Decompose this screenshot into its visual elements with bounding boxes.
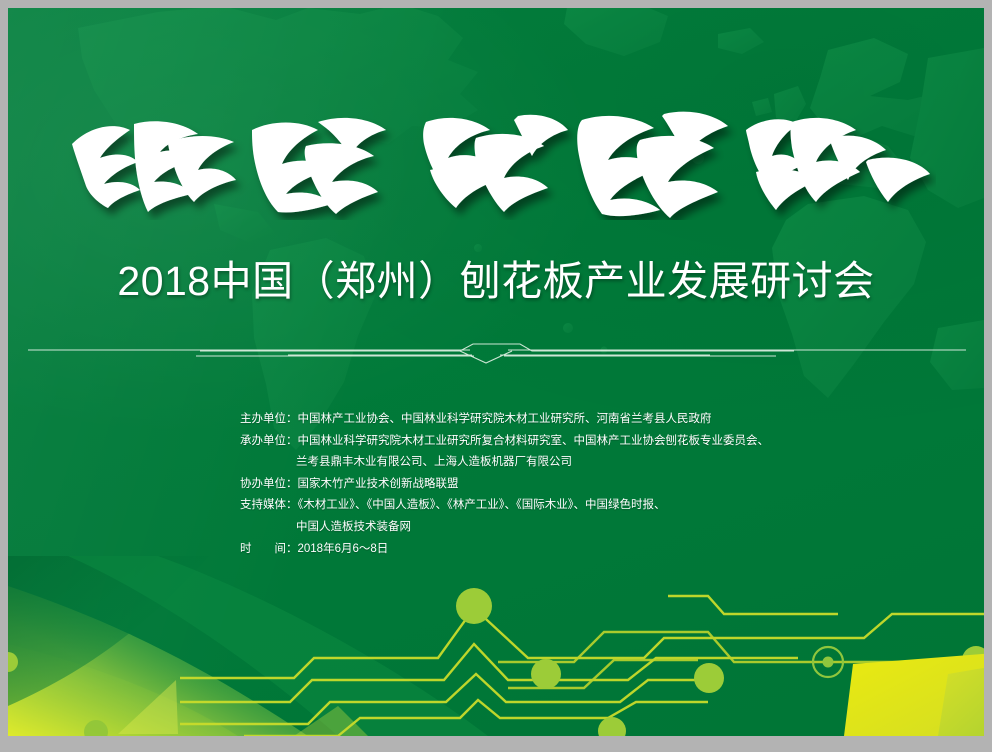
divider-rules (8, 334, 984, 368)
world-map-background-icon (8, 8, 984, 468)
detail-date: 时 间：2018年6月6～8日 (240, 539, 769, 561)
detail-media-partners: 支持媒体：《木材工业》、《中国人造板》、《林产工业》、《国际木业》、中国绿色时报… (240, 495, 769, 517)
event-details: 主办单位：中国林产工业协会、中国林业科学研究院木材工业研究所、河南省兰考县人民政… (240, 409, 769, 560)
detail-co-organizers-cont: 兰考县鼎丰木业有限公司、上海人造板机器厂有限公司 (240, 452, 769, 474)
headline-calligraphy (8, 100, 984, 220)
detail-organizers: 主办单位：中国林产工业协会、中国林业科学研究院木材工业研究所、河南省兰考县人民政… (240, 409, 769, 431)
poster-canvas: 2018中国（郑州）刨花板产业发展研讨会 主办单位：中国林产工业协会 (8, 8, 984, 736)
detail-supporting-units: 协办单位：国家木竹产业技术创新战略联盟 (240, 474, 769, 496)
headline-svg (56, 100, 936, 220)
event-subtitle: 2018中国（郑州）刨花板产业发展研讨会 (8, 257, 984, 305)
detail-media-partners-cont: 中国人造板技术装备网 (240, 517, 769, 539)
detail-co-organizers: 承办单位：中国林业科学研究院木材工业研究所复合材料研究室、中国林产工业协会刨花板… (240, 431, 769, 453)
circuit-board-graphic (8, 556, 984, 736)
